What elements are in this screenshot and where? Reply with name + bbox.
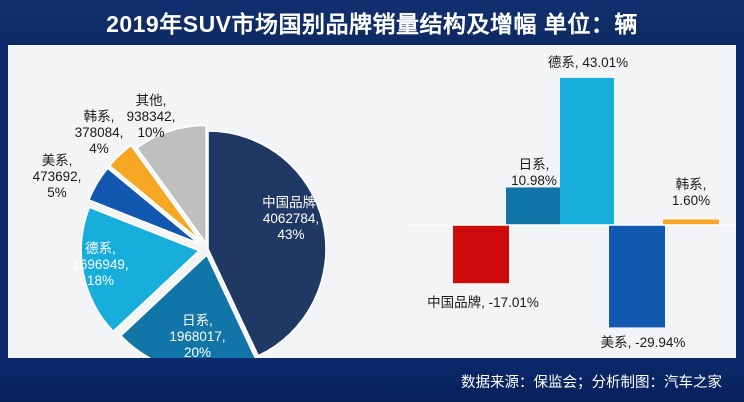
bar-日系[interactable]: [506, 187, 562, 225]
footer-banner: 数据来源：保监会；分析制图：汽车之家: [0, 360, 744, 402]
bar-中国品牌[interactable]: [453, 225, 509, 283]
infographic-root: 2019年SUV市场国别品牌销量结构及增幅 单位：辆 中国品牌, 4062784…: [0, 0, 744, 402]
pie-slice-group: [81, 125, 326, 358]
header-banner: 2019年SUV市场国别品牌销量结构及增幅 单位：辆: [0, 0, 744, 43]
page-title: 2019年SUV市场国别品牌销量结构及增幅 单位：辆: [106, 5, 638, 39]
content-panel: 中国品牌, 4062784, 43%日系, 1968017, 20%德系, 16…: [8, 45, 736, 358]
bar-美系[interactable]: [609, 225, 665, 327]
bar-韩系[interactable]: [663, 220, 719, 225]
bar-label-日系: 日系, 10.98%: [486, 157, 582, 189]
pie-chart: 中国品牌, 4062784, 43%日系, 1968017, 20%德系, 16…: [8, 45, 408, 358]
bar-label-中国品牌: 中国品牌, -17.01%: [403, 295, 563, 311]
data-source-note: 数据来源：保监会；分析制图：汽车之家: [461, 371, 722, 392]
bar-label-美系: 美系, -29.94%: [573, 335, 713, 351]
bar-德系[interactable]: [560, 78, 614, 225]
pie-chart-svg: [8, 45, 408, 358]
bar-label-韩系: 韩系, 1.60%: [646, 177, 736, 209]
bar-label-德系: 德系, 43.01%: [518, 55, 658, 71]
bar-chart: 中国品牌, -17.01%日系, 10.98%德系, 43.01%美系, -29…: [408, 45, 736, 358]
